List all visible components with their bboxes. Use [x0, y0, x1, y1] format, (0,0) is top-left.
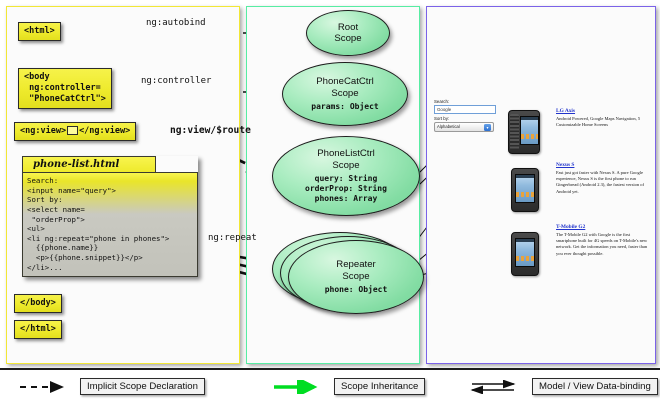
- label-ng-view-route: ng:view/$route: [170, 125, 251, 136]
- tag-html-open: <html>: [18, 22, 61, 41]
- phone-screen: [520, 116, 539, 145]
- label-ng-controller: ng:controller: [141, 76, 211, 86]
- sort-select-value: Alphabetical: [437, 123, 460, 131]
- scope-phonecatctrl: PhoneCatCtrl Scope params: Object: [282, 62, 408, 126]
- phone-screen: [515, 174, 535, 203]
- phone-name-link[interactable]: T-Mobile G2: [556, 224, 652, 230]
- tag-html-close: </html>: [14, 320, 62, 339]
- app-icons: [521, 134, 538, 139]
- phone-name-link[interactable]: LG Axis: [556, 108, 652, 114]
- scope-phonelistctrl-props: query: String orderProp: String phones: …: [305, 174, 387, 204]
- phone-list-item: LG Axis Android Powered, Google Maps Nav…: [556, 108, 652, 128]
- green-arrow-icon: [272, 380, 326, 394]
- phone-screen: [515, 238, 535, 267]
- status-bar: [516, 175, 534, 178]
- search-input[interactable]: Google: [434, 105, 496, 114]
- app-icons: [516, 192, 534, 197]
- legend-label: Implicit Scope Declaration: [80, 378, 205, 395]
- phone-thumbnail: [511, 232, 539, 276]
- legend-item-scope-inheritance: Scope Inheritance: [272, 378, 425, 395]
- legend-item-implicit-scope: Implicit Scope Declaration: [18, 378, 205, 395]
- phone-list-code-card: phone-list.html Search: <input name="que…: [22, 156, 198, 277]
- ngview-placeholder-box: [67, 126, 78, 135]
- phone-list-item: T-Mobile G2 The T-Mobile G2 with Google …: [556, 224, 652, 257]
- scope-repeater-name: Repeater Scope: [336, 259, 375, 281]
- tag-ngview-close-label: </ng:view>: [79, 126, 130, 136]
- scope-repeater: Repeater Scope phone: Object: [288, 240, 424, 314]
- tag-ngview: <ng:view></ng:view>: [14, 122, 136, 141]
- phone-snippet: Fast just got faster with Nexus S. A pur…: [556, 170, 652, 195]
- keyboard-icon: [510, 114, 519, 150]
- phone-name-link[interactable]: Nexus S: [556, 162, 652, 168]
- phone-snippet: Android Powered, Google Maps Navigation,…: [556, 116, 652, 128]
- label-ng-autobind: ng:autobind: [146, 18, 206, 28]
- phone-thumbnail: [508, 110, 540, 154]
- code-card-source: Search: <input name="query"> Sort by: <s…: [22, 172, 198, 277]
- phone-thumbnail: [511, 168, 539, 212]
- scope-phonecatctrl-props: params: Object: [311, 102, 378, 112]
- scope-phonecatctrl-name: PhoneCatCtrl Scope: [316, 76, 374, 98]
- status-bar: [521, 117, 538, 120]
- legend: Implicit Scope Declaration Scope Inherit…: [0, 368, 660, 407]
- app-icons: [516, 256, 534, 261]
- tag-body-close: </body>: [14, 294, 62, 313]
- code-card-title: phone-list.html: [22, 156, 156, 172]
- scope-phonelistctrl-name: PhoneListCtrl Scope: [317, 148, 375, 170]
- dashed-arrow-icon: [18, 380, 72, 394]
- view-search-form: Search: Google Sort by: Alphabetical ▾: [434, 99, 496, 132]
- chevron-down-icon: ▾: [484, 124, 491, 131]
- scope-repeater-props: phone: Object: [325, 285, 388, 295]
- phone-snippet: The T-Mobile G2 with Google is the first…: [556, 232, 652, 257]
- tag-body-open: <body ng:controller= "PhoneCatCtrl">: [18, 68, 112, 109]
- legend-item-data-binding: Model / View Data-binding: [470, 378, 658, 395]
- scope-root-name: Root Scope: [334, 22, 361, 44]
- label-ng-repeat: ng:repeat: [208, 233, 257, 243]
- double-arrow-icon: [470, 380, 524, 394]
- phone-list-item: Nexus S Fast just got faster with Nexus …: [556, 162, 652, 195]
- legend-label: Scope Inheritance: [334, 378, 425, 395]
- scope-phonelistctrl: PhoneListCtrl Scope query: String orderP…: [272, 136, 420, 216]
- sort-select[interactable]: Alphabetical ▾: [434, 122, 494, 132]
- status-bar: [516, 239, 534, 242]
- scope-root: Root Scope: [306, 10, 390, 56]
- diagram-canvas: Template Model View <html> <body ng:cont…: [0, 0, 660, 405]
- tag-ngview-open-label: <ng:view>: [20, 126, 66, 136]
- legend-label: Model / View Data-binding: [532, 378, 658, 395]
